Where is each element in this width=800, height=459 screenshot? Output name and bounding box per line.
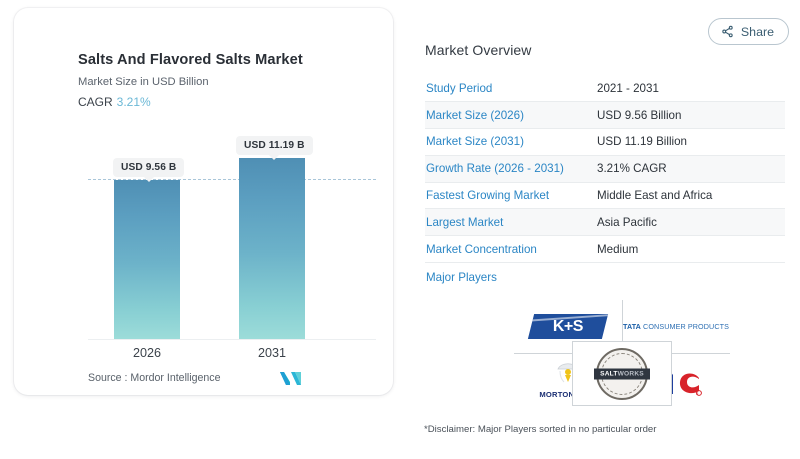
share-button[interactable]: Share — [708, 18, 789, 45]
table-row: Market Size (2026) USD 9.56 Billion — [425, 102, 785, 129]
table-row: Market Concentration Medium — [425, 236, 785, 263]
row-key: Market Concentration — [425, 236, 597, 263]
saltworks-badge-icon: SALTWORKS — [596, 348, 648, 400]
table-row: Growth Rate (2026 - 2031) 3.21% CAGR — [425, 155, 785, 182]
tata-logo-text: TATA CONSUMER PRODUCTS — [623, 322, 729, 331]
row-value: USD 9.56 Billion — [597, 102, 785, 129]
disclaimer-text: *Disclaimer: Major Players sorted in no … — [424, 424, 656, 435]
overview-table: Study Period 2021 - 2031 Market Size (20… — [425, 75, 785, 293]
row-key: Largest Market — [425, 209, 597, 236]
bar-2026[interactable] — [114, 180, 180, 339]
row-key: Market Size (2031) — [425, 129, 597, 156]
x-tick-label-2031: 2031 — [239, 346, 305, 360]
row-value: USD 11.19 Billion — [597, 129, 785, 156]
row-key: Growth Rate (2026 - 2031) — [425, 155, 597, 182]
saltworks-logo-text: SALTWORKS — [594, 368, 650, 379]
table-row-major-players: Major Players — [425, 263, 785, 293]
row-key: Study Period — [425, 75, 597, 102]
ks-logo-icon: K+S — [528, 314, 608, 339]
table-row: Fastest Growing Market Middle East and A… — [425, 182, 785, 209]
share-nodes-icon — [721, 25, 734, 38]
market-overview-screenshot: Share Salts And Flavored Salts Market Ma… — [0, 0, 800, 459]
row-key: Fastest Growing Market — [425, 182, 597, 209]
chart-source-row: Source : Mordor Intelligence — [88, 371, 376, 389]
row-key: Major Players — [425, 263, 597, 293]
bar-chart-plot: USD 9.56 B USD 11.19 B 2026 2031 Source … — [14, 8, 393, 395]
ks-logo-text: K+S — [553, 318, 583, 336]
row-value: 2021 - 2031 — [597, 75, 785, 102]
tata-logo-bold: TATA — [623, 322, 641, 331]
row-value — [597, 263, 785, 293]
chart-card: Salts And Flavored Salts Market Market S… — [14, 8, 393, 395]
row-value: Middle East and Africa — [597, 182, 785, 209]
player-logo-saltworks: SALTWORKS — [572, 341, 672, 406]
overview-title: Market Overview — [425, 42, 785, 58]
chart-source-text: Source : Mordor Intelligence — [88, 372, 221, 384]
mordor-intelligence-logo — [280, 371, 302, 391]
saltworks-salt-text: SALT — [600, 370, 618, 377]
x-axis-baseline — [88, 339, 376, 340]
table-row: Largest Market Asia Pacific — [425, 209, 785, 236]
row-value: 3.21% CAGR — [597, 155, 785, 182]
bar-label-2031: USD 11.19 B — [236, 136, 313, 155]
bar-label-2026: USD 9.56 B — [113, 158, 184, 177]
major-players-logos: K+S TATA CONSUMER PRODUCTS MO — [514, 300, 730, 406]
market-overview-panel: Market Overview Study Period 2021 - 2031… — [425, 42, 785, 293]
saltworks-works-text: WORKS — [618, 370, 644, 377]
share-button-label: Share — [741, 25, 774, 39]
row-value: Medium — [597, 236, 785, 263]
row-key: Market Size (2026) — [425, 102, 597, 129]
tata-logo-rest: CONSUMER PRODUCTS — [641, 322, 729, 331]
table-row: Market Size (2031) USD 11.19 Billion — [425, 129, 785, 156]
x-tick-label-2026: 2026 — [114, 346, 180, 360]
table-row: Study Period 2021 - 2031 — [425, 75, 785, 102]
row-value: Asia Pacific — [597, 209, 785, 236]
bar-2031[interactable] — [239, 158, 305, 339]
